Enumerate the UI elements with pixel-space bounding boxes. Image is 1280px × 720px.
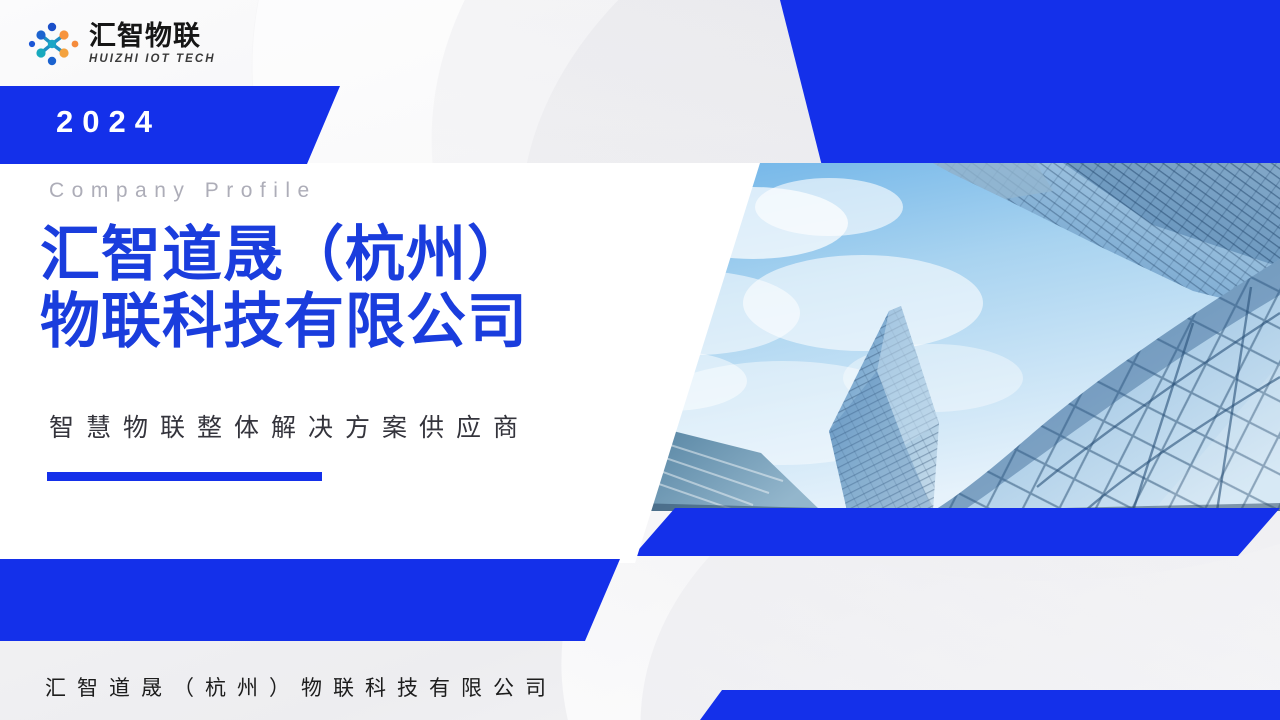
decorative-band-bottom-left [0, 559, 620, 641]
logo-name-cn: 汇智物联 [89, 23, 216, 50]
title-underline-rule [47, 472, 322, 481]
page-title-line-1: 汇智道晟（杭州） [40, 222, 680, 289]
decorative-band-top-right [780, 0, 1280, 166]
page-subtitle: 智慧物联整体解决方案供应商 [49, 408, 530, 444]
decorative-band-bottom-right [700, 690, 1280, 720]
year-banner [0, 86, 340, 164]
year-label: 2024 [56, 104, 161, 140]
page-title-line-2: 物联科技有限公司 [40, 289, 680, 356]
page-title: 汇智道晟（杭州） 物联科技有限公司 [40, 222, 680, 356]
footer-company-name: 汇智道晟（杭州）物联科技有限公司 [45, 672, 557, 702]
company-logo[interactable]: 汇智物联 HUIZHI IOT TECH [28, 22, 216, 66]
molecule-network-icon [28, 22, 80, 66]
eyebrow-label: Company Profile [49, 179, 317, 203]
logo-name-en: HUIZHI IOT TECH [89, 54, 216, 66]
decorative-band-under-photo [633, 508, 1280, 556]
title-slide: 2024 汇智物联 [0, 0, 1280, 720]
